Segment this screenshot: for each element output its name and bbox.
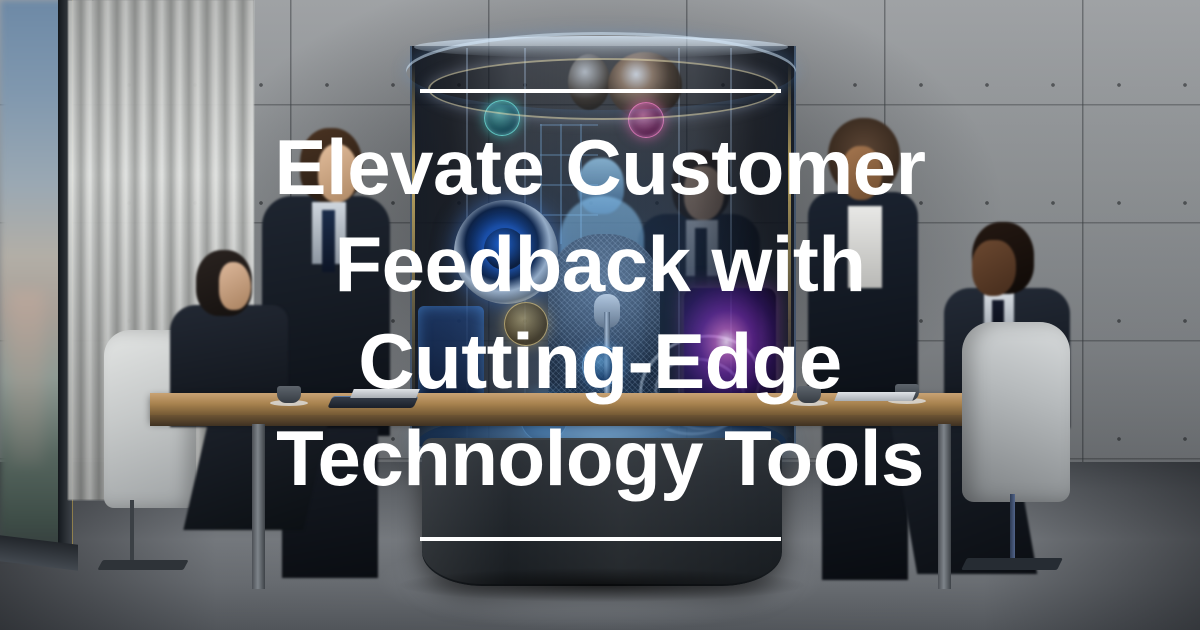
divider-top [420,89,781,93]
divider-bottom [420,537,781,541]
page-title: Elevate Customer Feedback with Cutting-E… [220,119,980,507]
headline-line-4: Technology Tools [220,410,980,507]
hero-banner: Elevate Customer Feedback with Cutting-E… [0,0,1200,630]
headline-line-3: Cutting-Edge [220,313,980,410]
headline-overlay: Elevate Customer Feedback with Cutting-E… [0,0,1200,630]
headline-line-1: Elevate Customer [220,119,980,216]
headline-line-2: Feedback with [220,216,980,313]
